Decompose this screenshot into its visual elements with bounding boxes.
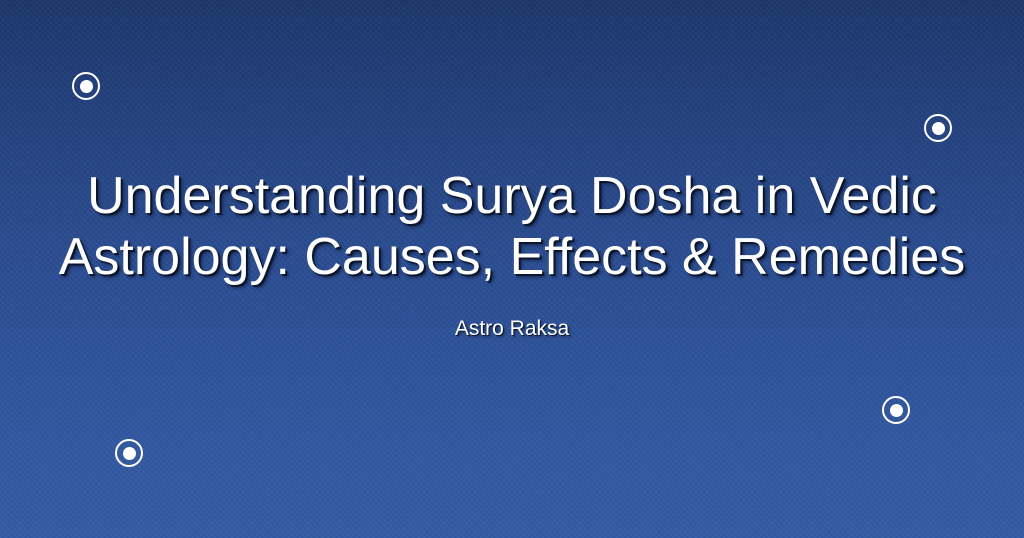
presentation-title-slide: Understanding Surya Dosha in Vedic Astro… [0,0,1024,538]
title-block: Understanding Surya Dosha in Vedic Astro… [0,166,1024,342]
target-marker-top-left-icon [72,72,100,100]
target-marker-top-right-icon [924,114,952,142]
target-marker-bottom-left-icon [115,439,143,467]
slide-subtitle: Astro Raksa [0,288,1024,342]
slide-title: Understanding Surya Dosha in Vedic Astro… [0,166,1024,288]
target-marker-core [890,404,903,417]
slide-title-line-1: Understanding Surya Dosha in Vedic [40,166,984,227]
slide-title-line-2: Astrology: Causes, Effects & Remedies [40,227,984,288]
target-marker-core [932,122,945,135]
target-marker-core [80,80,93,93]
target-marker-core [123,447,136,460]
target-marker-bottom-right-icon [882,396,910,424]
